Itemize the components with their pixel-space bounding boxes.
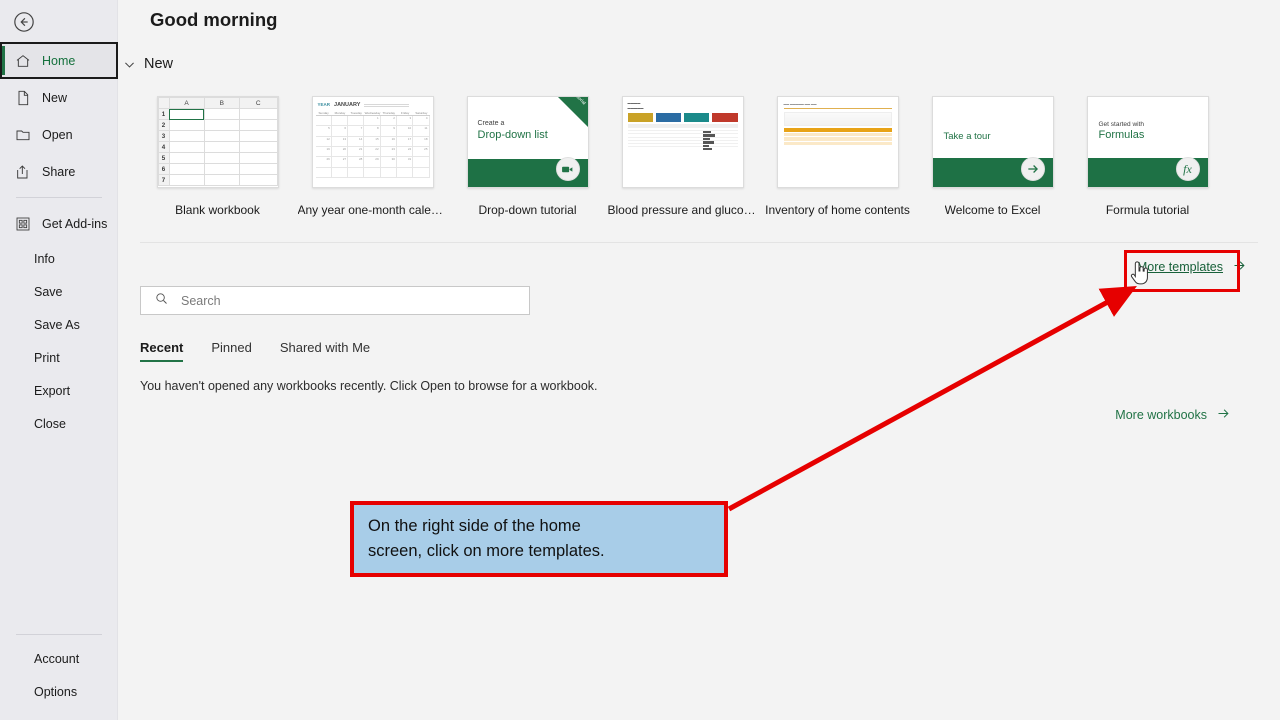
callout-line-1: On the right side of the home [368, 514, 724, 539]
grid-col-c: C [239, 98, 277, 109]
calendar-date-cell: 16 [381, 137, 397, 147]
calendar-dow: Sunday [316, 111, 332, 115]
grid-row-6: 6 [158, 164, 169, 175]
calendar-dow: Thursday [381, 111, 397, 115]
preview-summary-box [784, 112, 892, 126]
color-block [684, 113, 709, 122]
tab-pinned[interactable]: Pinned [211, 340, 251, 362]
color-block [656, 113, 681, 122]
calendar-date-cell: 1 [364, 116, 380, 126]
calendar-date-cell: 24 [397, 147, 413, 157]
grid-cell [204, 109, 239, 120]
calendar-date-cell: 30 [381, 157, 397, 167]
backstage-sidebar: Home New Open [0, 0, 118, 720]
calendar-date-cell: 21 [348, 147, 364, 157]
calendar-date-cell [332, 116, 348, 126]
preview-table-header [784, 128, 892, 132]
grid-cell [239, 109, 277, 120]
tab-shared-with-me[interactable]: Shared with Me [280, 340, 370, 362]
template-thumbnail: ▬▬ ▬▬▬▬▬ ▬▬ ▬▬ [777, 96, 899, 188]
calendar-date-cell: 4 [413, 116, 429, 126]
grid-cell [204, 175, 239, 186]
calendar-date-cell: 5 [316, 126, 332, 136]
calendar-date-cell: 31 [397, 157, 413, 167]
calendar-date-cell [332, 168, 348, 178]
sidebar-item-label: New [42, 91, 67, 105]
tab-recent[interactable]: Recent [140, 340, 183, 362]
calendar-date-cell [381, 168, 397, 178]
card-line1: Create a [478, 120, 505, 127]
calendar-date-cell: 20 [332, 147, 348, 157]
calendar-date-cell: 29 [364, 157, 380, 167]
template-thumbnail: Get started with Formulas fx [1087, 96, 1209, 188]
template-card-calendar[interactable]: YEAR JANUARY Sunday Monday Tuesday Wedne… [295, 96, 450, 217]
calendar-dow: Saturday [413, 111, 429, 115]
sidebar-primary-nav: Home New Open [0, 42, 118, 440]
template-card-dropdown-tutorial[interactable]: Tutorial Create a Drop-down list Drop-do… [450, 96, 605, 217]
grid-cell [169, 164, 204, 175]
search-icon [154, 291, 169, 311]
calendar-date-cell [348, 116, 364, 126]
more-workbooks-label: More workbooks [1115, 408, 1207, 422]
grid-row-5: 5 [158, 153, 169, 164]
template-card-inventory[interactable]: ▬▬ ▬▬▬▬▬ ▬▬ ▬▬ Inventory of home content… [760, 96, 915, 217]
grid-cell [239, 120, 277, 131]
grid-cell [239, 131, 277, 142]
home-icon [14, 52, 32, 70]
grid-col-b: B [204, 98, 239, 109]
arrow-right-icon [1232, 258, 1247, 276]
sidebar-item-label: Save [34, 285, 63, 299]
template-card-blood-pressure[interactable]: ▬▬▬▬▬▬▬▬▬ [605, 96, 760, 217]
calendar-date-cell: 6 [332, 126, 348, 136]
formula-card-preview: Get started with Formulas fx [1088, 97, 1208, 187]
template-card-formula-tutorial[interactable]: Get started with Formulas fx Formula tut… [1070, 96, 1225, 217]
template-name: Blank workbook [175, 203, 260, 217]
template-name: Welcome to Excel [945, 203, 1041, 217]
calendar-date-cell: 14 [348, 137, 364, 147]
preview-title-line: ▬▬ ▬▬▬▬▬ ▬▬ ▬▬ [784, 102, 892, 109]
grid-row-1: 1 [158, 109, 169, 120]
search-input[interactable]: Search [140, 286, 530, 315]
sidebar-item-save-as[interactable]: Save As [0, 308, 118, 341]
back-arrow-icon[interactable] [10, 8, 38, 36]
calendar-date-cell: 12 [316, 137, 332, 147]
template-name: Formula tutorial [1106, 203, 1189, 217]
color-block [628, 113, 653, 122]
more-templates-link[interactable]: More templates [1137, 258, 1247, 276]
preview-data-table [628, 124, 738, 148]
calendar-date-cell: 3 [397, 116, 413, 126]
share-icon [14, 163, 32, 181]
sidebar-item-export[interactable]: Export [0, 374, 118, 407]
sidebar-item-label: Info [34, 252, 55, 266]
tour-card-preview: Take a tour [933, 97, 1053, 187]
hand-pointer-cursor [1128, 260, 1150, 286]
add-ins-grid-icon [14, 215, 32, 233]
template-thumbnail: Tutorial Create a Drop-down list [467, 96, 589, 188]
sidebar-item-account[interactable]: Account [0, 642, 118, 675]
preview-table-row [784, 142, 892, 145]
calendar-date-cell: 28 [348, 157, 364, 167]
template-gallery: A B C 1 2 3 4 5 6 7 [140, 96, 1225, 217]
new-document-icon [14, 89, 32, 107]
home-main-panel: Good morning New A B C [118, 0, 1280, 720]
more-workbooks-link[interactable]: More workbooks [1115, 406, 1231, 424]
card-line2: Formulas [1099, 129, 1145, 141]
sidebar-item-print[interactable]: Print [0, 341, 118, 374]
calendar-year-label: YEAR [318, 102, 331, 107]
preview-table-row [784, 137, 892, 140]
template-card-welcome-to-excel[interactable]: Take a tour Welcome to Excel [915, 96, 1070, 217]
sidebar-item-info[interactable]: Info [0, 242, 118, 275]
template-thumbnail: ▬▬▬▬▬▬▬▬▬ [622, 96, 744, 188]
calendar-date-cell: 19 [316, 147, 332, 157]
preview-table-row [784, 133, 892, 136]
callout-line-2: screen, click on more templates. [368, 539, 724, 564]
calendar-date-cell: 7 [348, 126, 364, 136]
card-line1: Get started with [1099, 121, 1145, 128]
grid-cell [169, 120, 204, 131]
calendar-preview: YEAR JANUARY Sunday Monday Tuesday Wedne… [313, 97, 433, 187]
template-name: Blood pressure and glucose... [608, 203, 758, 217]
grid-cell [239, 175, 277, 186]
blood-pressure-preview: ▬▬▬▬▬▬▬▬▬ [623, 97, 743, 187]
sidebar-item-get-add-ins[interactable]: Get Add-ins [0, 205, 118, 242]
sidebar-item-new[interactable]: New [0, 79, 118, 116]
calendar-date-cell [413, 157, 429, 167]
calendar-date-cell: 26 [316, 157, 332, 167]
sidebar-item-label: Share [42, 165, 75, 179]
grid-cell [239, 142, 277, 153]
template-name: Any year one-month calen... [298, 203, 448, 217]
sidebar-item-label: Open [42, 128, 73, 142]
grid-cell [239, 153, 277, 164]
new-section-label: New [144, 56, 173, 72]
sidebar-item-label: Get Add-ins [42, 217, 107, 231]
calendar-date-cell: 10 [397, 126, 413, 136]
card-line1: Take a tour [944, 131, 991, 142]
preview-color-blocks [628, 113, 738, 122]
calendar-date-cell: 22 [364, 147, 380, 157]
sidebar-item-label: Export [34, 384, 70, 398]
calendar-dow: Tuesday [348, 111, 364, 115]
grid-cell [204, 164, 239, 175]
sidebar-item-save[interactable]: Save [0, 275, 118, 308]
sidebar-secondary-nav: Account Options [0, 627, 118, 708]
template-thumbnail: YEAR JANUARY Sunday Monday Tuesday Wedne… [312, 96, 434, 188]
preview-title-lines: ▬▬▬▬▬▬▬▬▬ [628, 101, 738, 111]
calendar-date-cell: 15 [364, 137, 380, 147]
calendar-date-cell: 9 [381, 126, 397, 136]
grid-cell [204, 120, 239, 131]
sidebar-item-label: Save As [34, 318, 80, 332]
color-block [712, 113, 737, 122]
calendar-date-cell: 13 [332, 137, 348, 147]
card-line2: Drop-down list [478, 129, 548, 141]
calendar-date-cell: 18 [413, 137, 429, 147]
grid-cell [204, 131, 239, 142]
sidebar-item-share[interactable]: Share [0, 153, 118, 190]
grid-cell [204, 142, 239, 153]
recent-files-tabs: Recent Pinned Shared with Me [140, 340, 370, 362]
sidebar-item-label: Options [34, 685, 77, 699]
calendar-date-cell [316, 116, 332, 126]
grid-row-3: 3 [158, 131, 169, 142]
sidebar-item-label: Print [34, 351, 60, 365]
calendar-date-grid: 1234567891011121314151617181920212223242… [316, 116, 430, 178]
grid-cell [169, 153, 204, 164]
template-thumbnail: Take a tour [932, 96, 1054, 188]
section-divider [140, 242, 1258, 243]
grid-cell [169, 142, 204, 153]
page-title: Good morning [150, 9, 277, 31]
template-name: Inventory of home contents [765, 203, 910, 217]
arrow-right-circle-icon [1021, 157, 1045, 181]
calendar-month-label: JANUARY [334, 102, 360, 108]
template-card-blank-workbook[interactable]: A B C 1 2 3 4 5 6 7 [140, 96, 295, 217]
calendar-date-cell [316, 168, 332, 178]
calendar-header-lines [364, 102, 427, 107]
calendar-date-cell: 11 [413, 126, 429, 136]
new-section-header[interactable]: New [123, 56, 173, 72]
sidebar-divider-bottom [16, 634, 102, 635]
search-placeholder: Search [181, 294, 221, 308]
calendar-date-cell: 23 [381, 147, 397, 157]
grid-cell [204, 153, 239, 164]
open-folder-icon [14, 126, 32, 144]
calendar-date-cell: 2 [381, 116, 397, 126]
sidebar-item-open[interactable]: Open [0, 116, 118, 153]
calendar-date-cell: 8 [364, 126, 380, 136]
calendar-dow: Wednesday [364, 111, 380, 115]
sidebar-item-close[interactable]: Close [0, 407, 118, 440]
preview-bar-chart [703, 131, 715, 151]
calendar-dow: Friday [397, 111, 413, 115]
calendar-date-cell: 27 [332, 157, 348, 167]
calendar-date-cell [397, 168, 413, 178]
grid-col-a: A [169, 98, 204, 109]
empty-state-message: You haven't opened any workbooks recentl… [140, 379, 598, 393]
template-thumbnail: A B C 1 2 3 4 5 6 7 [157, 96, 279, 188]
grid-cell [239, 164, 277, 175]
grid-cell-a1 [169, 109, 204, 120]
chevron-down-icon[interactable] [123, 58, 136, 71]
template-name: Drop-down tutorial [478, 203, 576, 217]
grid-cell [169, 175, 204, 186]
dropdown-card-preview: Tutorial Create a Drop-down list [468, 97, 588, 187]
grid-corner [158, 98, 169, 109]
sidebar-item-label: Home [42, 54, 75, 68]
calendar-date-cell [364, 168, 380, 178]
fx-icon: fx [1176, 157, 1200, 181]
calendar-date-cell [348, 168, 364, 178]
sidebar-item-home[interactable]: Home [0, 42, 118, 79]
sidebar-divider [16, 197, 102, 198]
grid-row-7: 7 [158, 175, 169, 186]
video-icon [556, 157, 580, 181]
calendar-date-cell [413, 168, 429, 178]
blank-grid-preview: A B C 1 2 3 4 5 6 7 [158, 97, 278, 187]
selection-accent-bar [2, 46, 5, 75]
inventory-preview: ▬▬ ▬▬▬▬▬ ▬▬ ▬▬ [778, 97, 898, 187]
sidebar-item-label: Close [34, 417, 66, 431]
grid-cell [169, 131, 204, 142]
calendar-date-cell: 17 [397, 137, 413, 147]
sidebar-item-options[interactable]: Options [0, 675, 118, 708]
sidebar-item-label: Account [34, 652, 79, 666]
arrow-right-icon [1216, 406, 1231, 424]
excel-start-screen: Home New Open [0, 0, 1280, 720]
instruction-callout: On the right side of the home screen, cl… [350, 501, 728, 577]
calendar-dow: Monday [332, 111, 348, 115]
calendar-date-cell: 25 [413, 147, 429, 157]
grid-row-2: 2 [158, 120, 169, 131]
grid-row-4: 4 [158, 142, 169, 153]
